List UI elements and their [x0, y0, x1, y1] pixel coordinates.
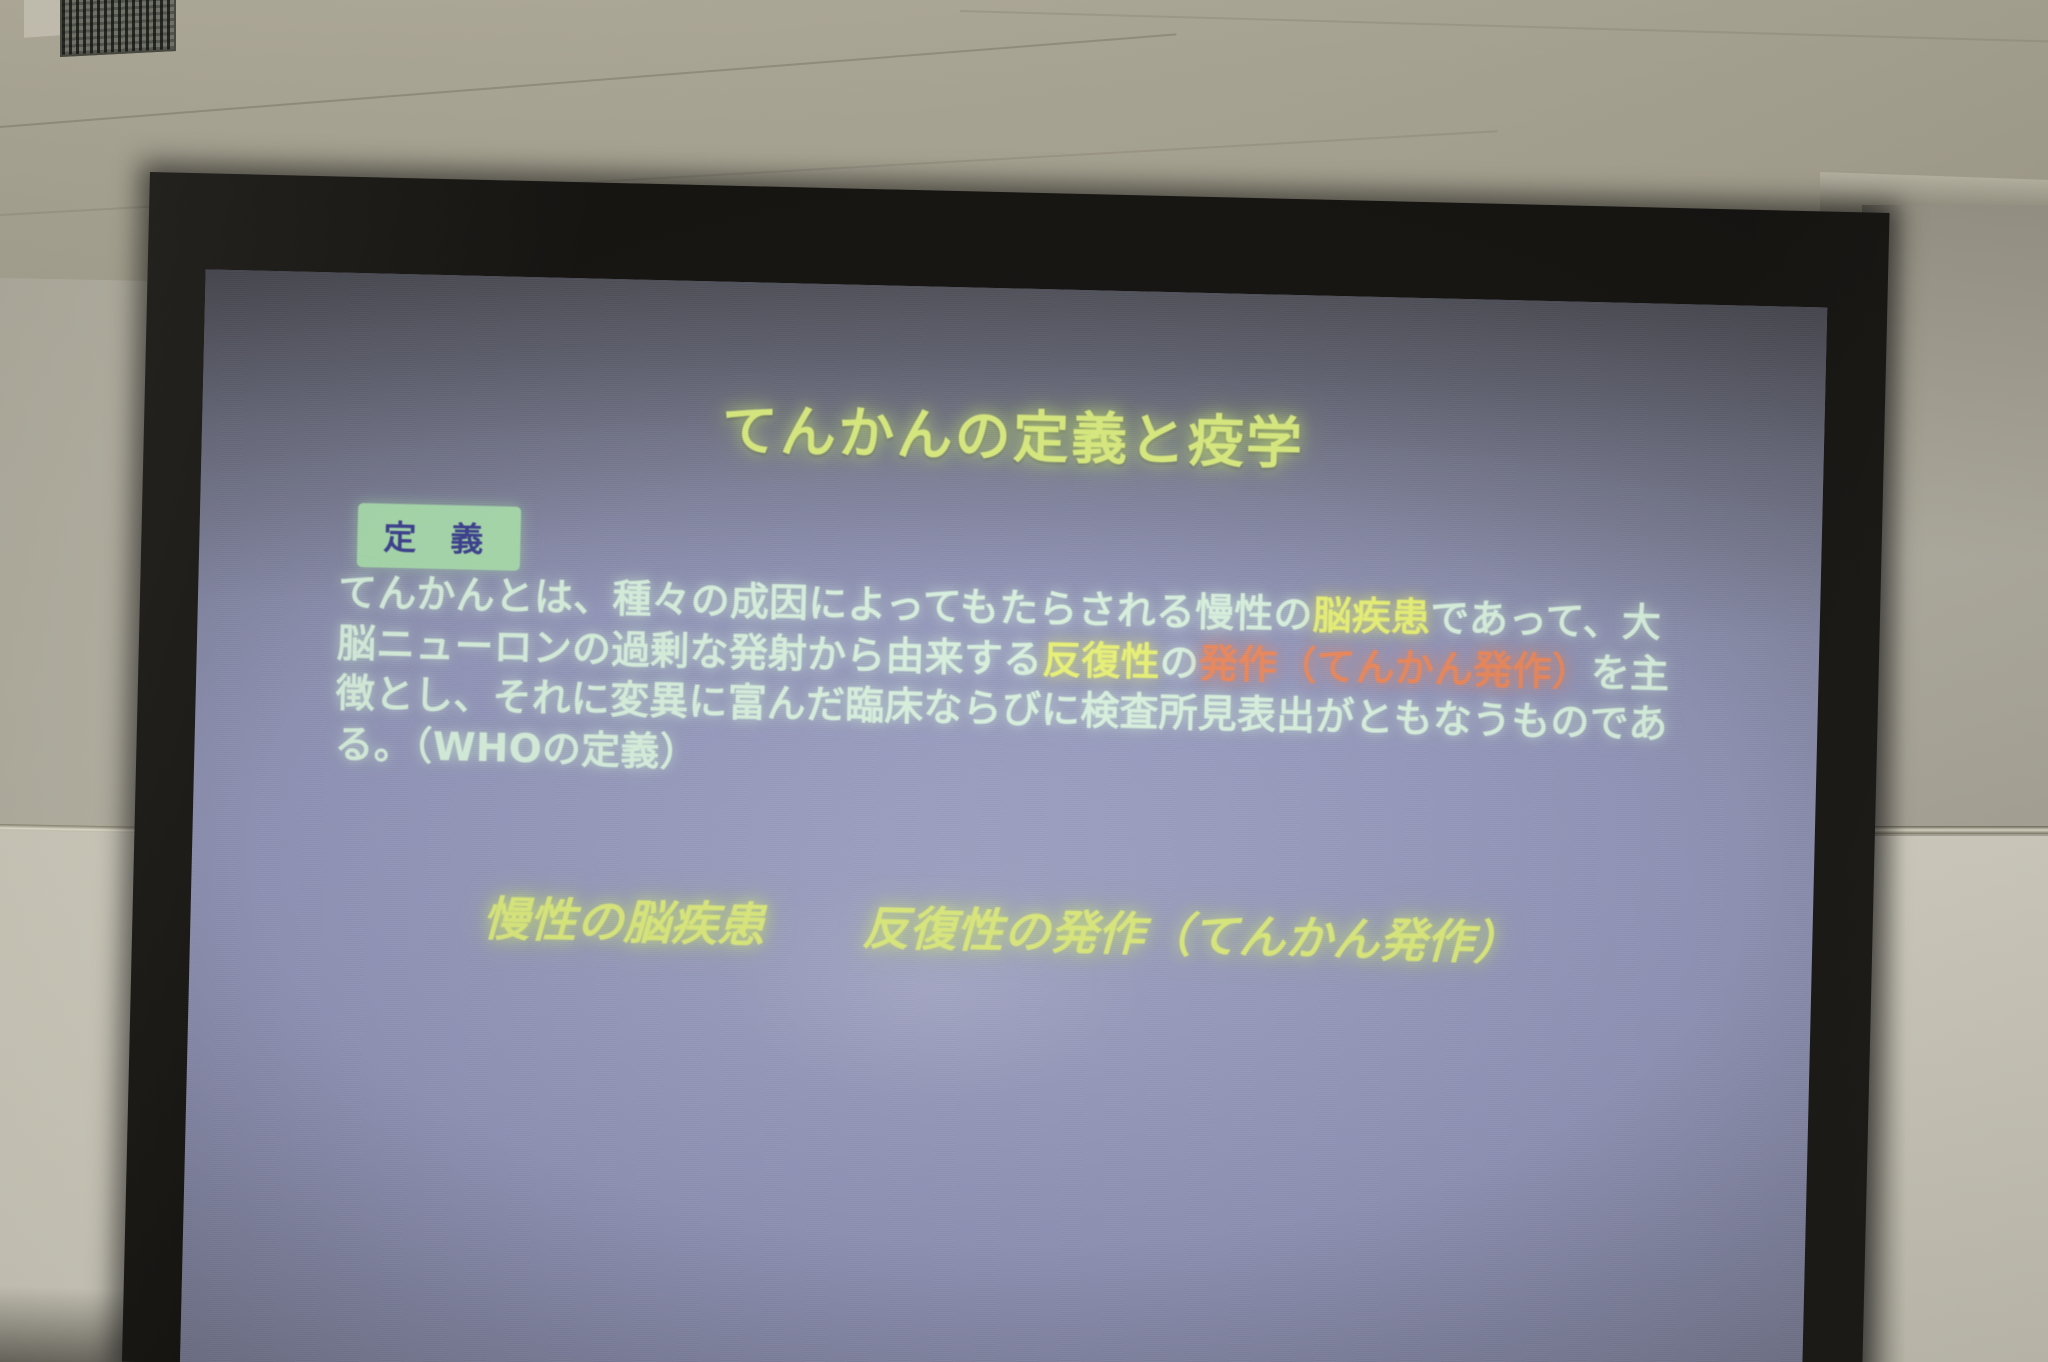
definition-badge: 定 義	[357, 503, 522, 571]
body-segment-highlight: 反復性	[1042, 638, 1161, 686]
projection-screen: てんかんの定義と疫学 定 義 てんかんとは、種々の成因によってもたらされる慢性の…	[122, 172, 1890, 1362]
body-segment: を主	[1590, 651, 1669, 698]
key-point: 慢性の脳疾患	[482, 880, 766, 956]
slide-key-points: 慢性の脳疾患 反復性の発作（てんかん発作）	[190, 873, 1813, 980]
key-point: 反復性の発作（てんかん発作）	[862, 889, 1521, 973]
body-segment: る。（WHOの定義）	[334, 723, 699, 777]
slide-body-text: てんかんとは、種々の成因によってもたらされる慢性の脳疾患であって、大 脳ニューロ…	[334, 569, 1668, 803]
screen-surface: てんかんの定義と疫学 定 義 てんかんとは、種々の成因によってもたらされる慢性の…	[180, 269, 1827, 1362]
ceiling-vent-icon	[60, 0, 176, 57]
body-segment: の	[1159, 641, 1199, 687]
body-segment-highlight: 脳疾患	[1312, 594, 1431, 642]
body-segment: であって、大	[1430, 596, 1662, 646]
projected-slide: てんかんの定義と疫学 定 義 てんかんとは、種々の成因によってもたらされる慢性の…	[180, 269, 1827, 1362]
lecture-room-photo: てんかんの定義と疫学 定 義 てんかんとは、種々の成因によってもたらされる慢性の…	[0, 0, 2048, 1362]
body-segment-highlight: 発作（てんかん発作）	[1198, 642, 1591, 696]
slide-title: てんかんの定義と疫学	[201, 373, 1824, 492]
ceiling-seam	[0, 33, 1176, 128]
